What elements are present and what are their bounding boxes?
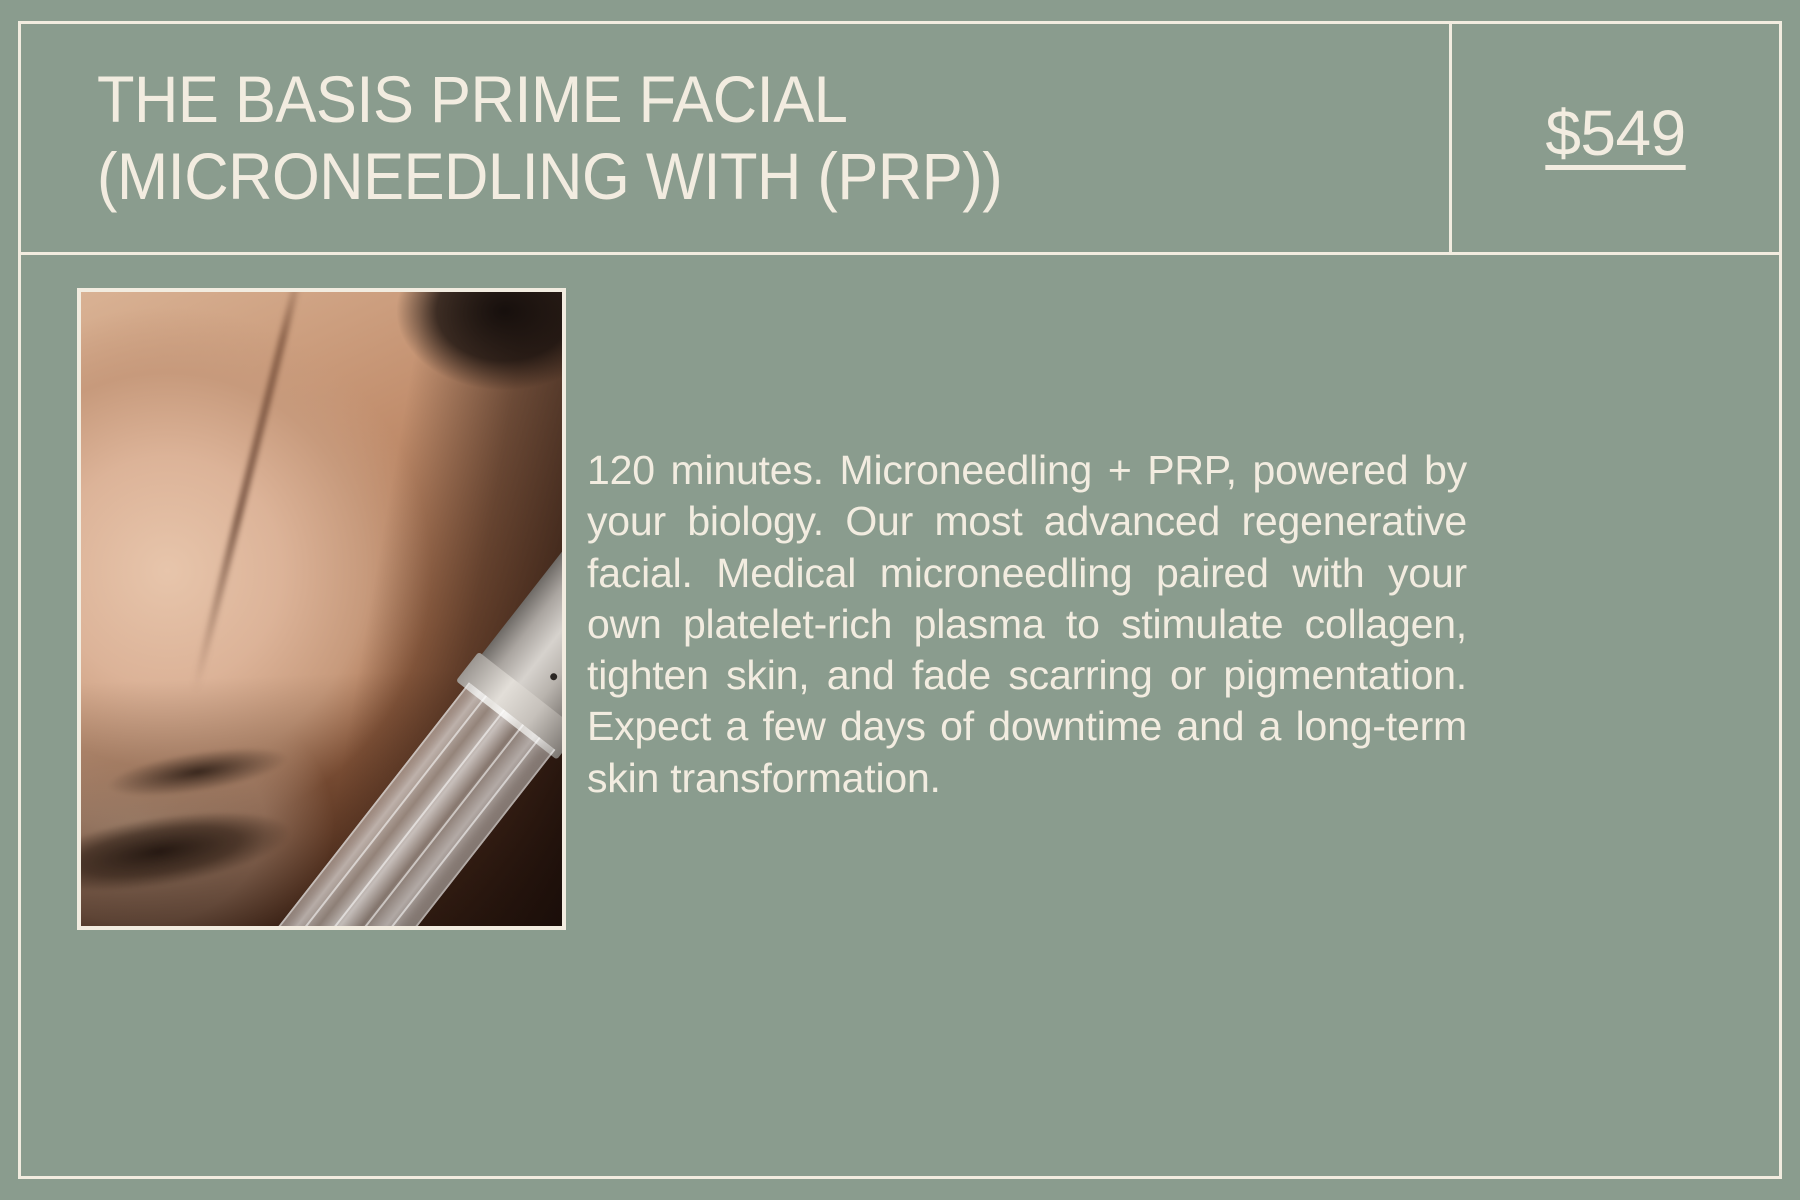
- pen-body: [477, 388, 566, 733]
- pen-streak: [264, 709, 505, 930]
- microneedling-pen-icon: [228, 388, 566, 930]
- pen-streak: [299, 736, 540, 930]
- pen-streak: [283, 723, 524, 930]
- treatment-photo-frame: [77, 288, 566, 930]
- card-body: 120 minutes. Microneedling + PRP, powere…: [21, 255, 1779, 1176]
- price-cell: $549: [1452, 24, 1779, 252]
- title-cell: THE BASIS PRIME FACIAL (MICRONEEDLING WI…: [21, 24, 1452, 252]
- service-description: 120 minutes. Microneedling + PRP, powere…: [587, 445, 1467, 804]
- pen-collar: [456, 651, 566, 759]
- treatment-photo: [81, 292, 562, 926]
- service-card: THE BASIS PRIME FACIAL (MICRONEEDLING WI…: [18, 21, 1782, 1179]
- page-title: THE BASIS PRIME FACIAL (MICRONEEDLING WI…: [97, 61, 1002, 215]
- pen-streak: [246, 695, 487, 930]
- price-label: $549: [1545, 96, 1685, 180]
- card-header: THE BASIS PRIME FACIAL (MICRONEEDLING WI…: [21, 24, 1779, 255]
- pen-vent-dot: [549, 671, 559, 681]
- pen-cartridge-tip: [229, 682, 555, 930]
